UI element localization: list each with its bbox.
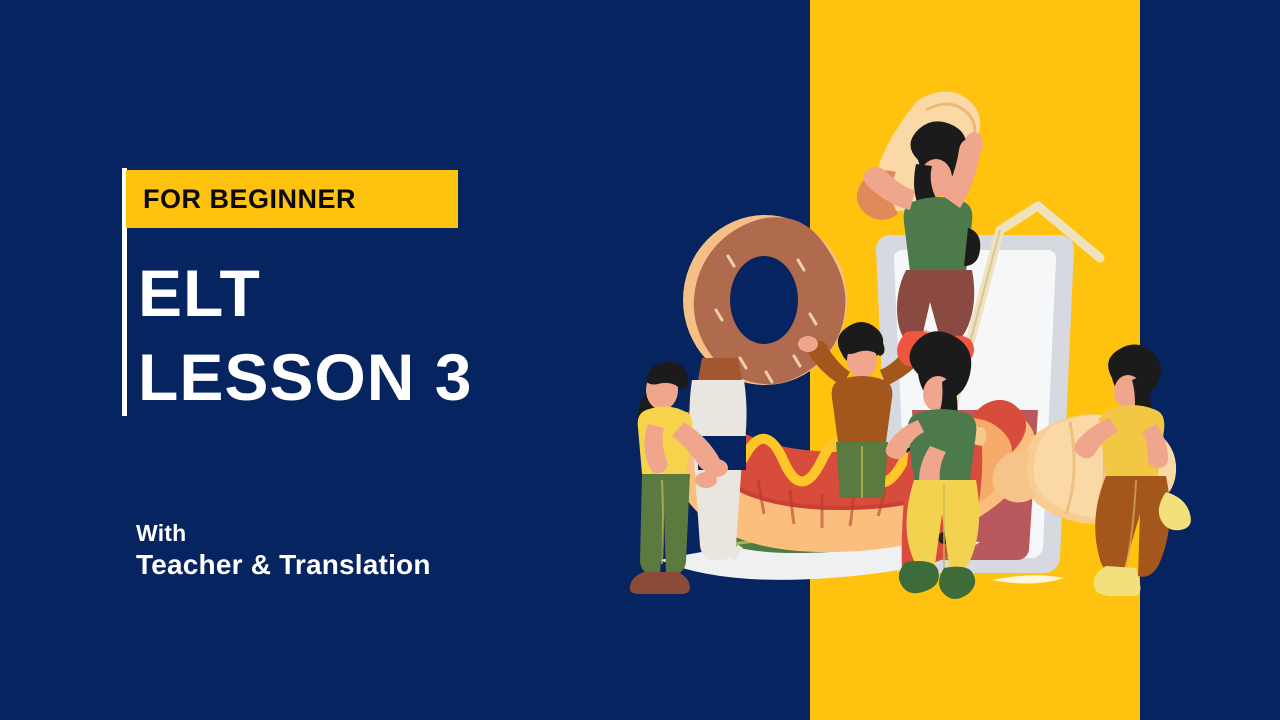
title-line-2: LESSON 3 [138,344,472,410]
presentation-slide: FOR BEGINNER ELT LESSON 3 With Teacher &… [0,0,1280,720]
credit-block: With Teacher & Translation [136,518,431,582]
level-badge: FOR BEGINNER [126,170,458,228]
credit-with-label: With [136,518,431,548]
ground-shadow [992,575,1064,583]
level-badge-label: FOR BEGINNER [126,184,356,215]
food-people-illustration [600,60,1200,620]
credit-names: Teacher & Translation [136,548,431,582]
title-line-1: ELT [138,260,261,326]
